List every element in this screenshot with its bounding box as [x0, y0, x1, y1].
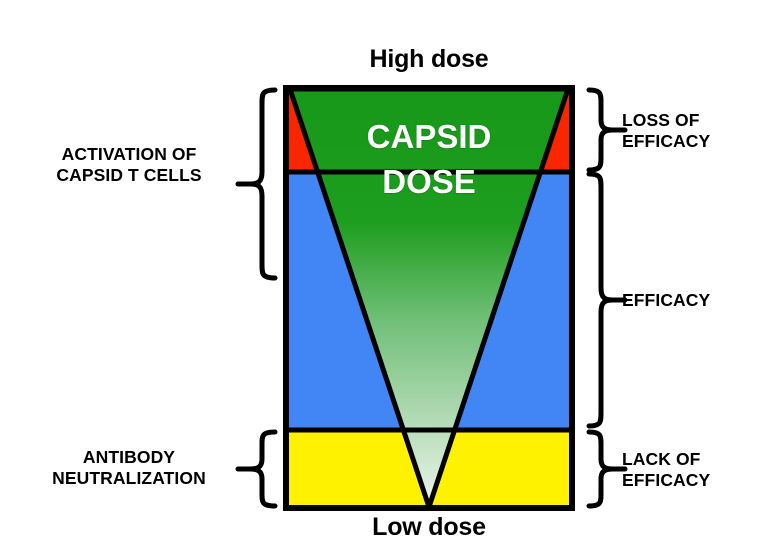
axis-label-high-dose: High dose	[264, 44, 594, 75]
annotation-efficacy: EFFICACY	[622, 290, 762, 311]
annotation-antibody-neutralization: ANTIBODY NEUTRALIZATION	[22, 447, 236, 490]
brace-right-loss	[589, 90, 625, 170]
annotation-loss-of-efficacy: LOSS OF EFFICACY	[622, 110, 762, 153]
color-bands	[286, 88, 572, 508]
brace-left-activation	[238, 90, 275, 278]
annotation-activation-of-capsid-t-cells: ACTIVATION OF CAPSID T CELLS	[22, 144, 236, 187]
brace-right-lack	[589, 432, 625, 506]
brace-right-efficacy	[589, 174, 625, 426]
axis-label-low-dose: Low dose	[264, 512, 594, 543]
brace-left-antibody	[238, 432, 275, 506]
capsid-dose-efficacy-diagram: High dose Low dose CAPSID DOSE ACTIVATIO…	[0, 0, 769, 556]
annotation-lack-of-efficacy: LACK OF EFFICACY	[622, 449, 762, 492]
